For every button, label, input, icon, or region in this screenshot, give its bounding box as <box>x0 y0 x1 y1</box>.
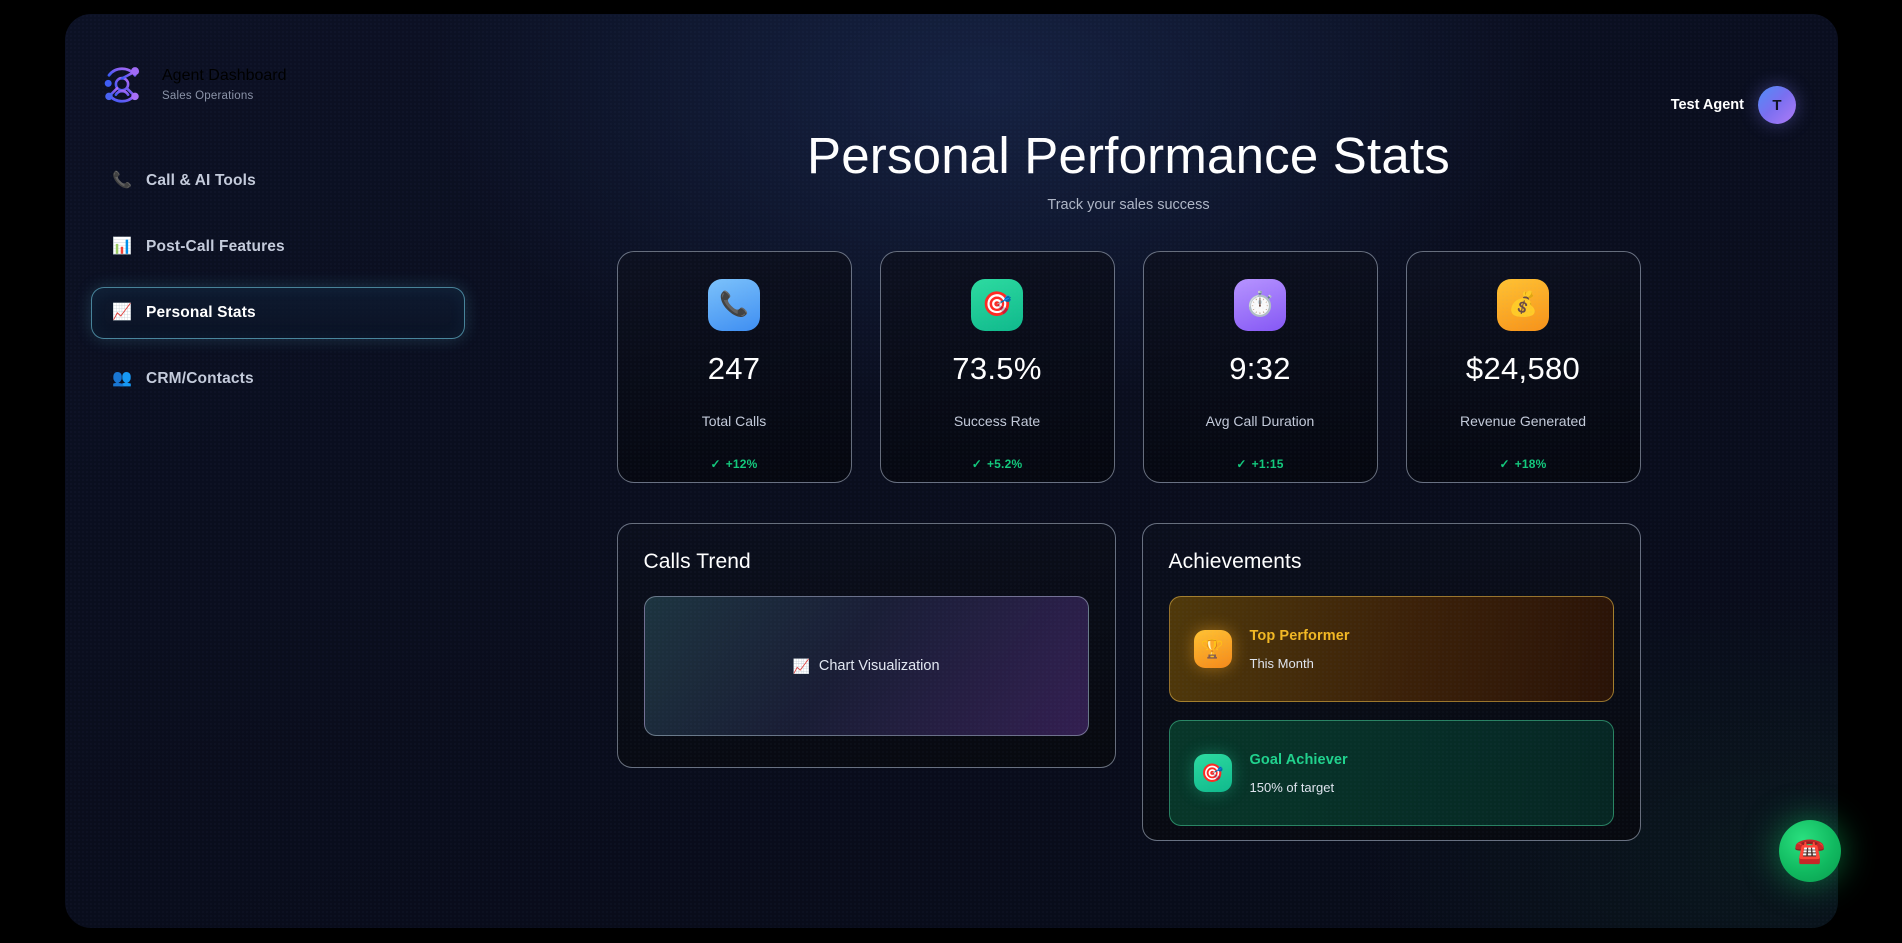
network-node-logo-icon <box>96 59 148 111</box>
sidebar-item-personal-stats[interactable]: 📈 Personal Stats <box>91 287 465 339</box>
phone-icon: 📞 <box>112 173 132 189</box>
stat-delta-value: +18% <box>1515 457 1547 471</box>
app-window: Agent Dashboard Sales Operations 📞 Call … <box>65 14 1838 928</box>
stat-delta-value: +1:15 <box>1252 457 1284 471</box>
calls-trend-panel: Calls Trend 📈 Chart Visualization <box>617 523 1116 768</box>
stat-delta-value: +5.2% <box>987 457 1022 471</box>
target-icon: 🎯 <box>1194 754 1232 792</box>
stat-value: 247 <box>708 351 761 387</box>
brand-block[interactable]: Agent Dashboard Sales Operations <box>65 59 485 111</box>
panel-title: Calls Trend <box>644 550 1089 574</box>
stopwatch-icon: ⏱️ <box>1234 279 1286 331</box>
phone-icon: 📞 <box>708 279 760 331</box>
check-icon: ✓ <box>1236 457 1246 471</box>
panels-row: Calls Trend 📈 Chart Visualization Achiev… <box>479 523 1778 841</box>
user-chip[interactable]: Test Agent T <box>1671 86 1796 124</box>
stat-card-avg-call-duration[interactable]: ⏱️ 9:32 Avg Call Duration ✓+1:15 <box>1143 251 1378 483</box>
user-name: Test Agent <box>1671 97 1744 113</box>
stats-row: 📞 247 Total Calls ✓+12% 🎯 73.5% Success … <box>479 251 1778 483</box>
stat-label: Total Calls <box>702 413 767 429</box>
stat-delta: ✓+5.2% <box>972 457 1023 471</box>
stat-label: Success Rate <box>954 413 1040 429</box>
achievements-panel: Achievements 🏆 Top Performer This Month … <box>1142 523 1641 841</box>
stat-label: Revenue Generated <box>1460 413 1586 429</box>
chart-placeholder-label: Chart Visualization <box>819 658 940 674</box>
telephone-icon: ☎️ <box>1794 839 1825 864</box>
achievement-title: Top Performer <box>1250 628 1350 644</box>
chart-visualization-placeholder[interactable]: 📈 Chart Visualization <box>644 596 1089 736</box>
sidebar-item-label: Call & AI Tools <box>146 172 256 190</box>
chart-increasing-icon: 📈 <box>112 305 132 321</box>
check-icon: ✓ <box>972 457 982 471</box>
money-bag-icon: 💰 <box>1497 279 1549 331</box>
sidebar-item-label: CRM/Contacts <box>146 370 254 388</box>
chart-increasing-icon: 📈 <box>792 658 809 675</box>
stat-delta-value: +12% <box>726 457 758 471</box>
check-icon: ✓ <box>710 457 720 471</box>
sidebar-item-label: Post-Call Features <box>146 238 285 256</box>
avatar[interactable]: T <box>1758 86 1796 124</box>
bar-chart-icon: 📊 <box>112 239 132 255</box>
stat-value: $24,580 <box>1466 351 1580 387</box>
stat-value: 73.5% <box>952 351 1041 387</box>
stat-label: Avg Call Duration <box>1206 413 1315 429</box>
achievement-subtitle: This Month <box>1250 656 1350 671</box>
stat-delta: ✓+12% <box>710 457 757 471</box>
call-fab-button[interactable]: ☎️ <box>1779 820 1841 882</box>
stat-card-total-calls[interactable]: 📞 247 Total Calls ✓+12% <box>617 251 852 483</box>
stat-card-success-rate[interactable]: 🎯 73.5% Success Rate ✓+5.2% <box>880 251 1115 483</box>
achievement-top-performer[interactable]: 🏆 Top Performer This Month <box>1169 596 1614 702</box>
page-subtitle: Track your sales success <box>479 197 1778 213</box>
brand-title: Agent Dashboard <box>162 67 287 85</box>
stat-card-revenue-generated[interactable]: 💰 $24,580 Revenue Generated ✓+18% <box>1406 251 1641 483</box>
sidebar: Agent Dashboard Sales Operations 📞 Call … <box>65 14 485 928</box>
achievement-subtitle: 150% of target <box>1250 780 1348 795</box>
sidebar-item-call-ai-tools[interactable]: 📞 Call & AI Tools <box>91 155 465 207</box>
page-title: Personal Performance Stats <box>479 126 1778 185</box>
people-icon: 👥 <box>112 371 132 387</box>
sidebar-item-label: Personal Stats <box>146 304 256 322</box>
achievement-goal-achiever[interactable]: 🎯 Goal Achiever 150% of target <box>1169 720 1614 826</box>
stat-delta: ✓+1:15 <box>1236 457 1283 471</box>
sidebar-item-crm-contacts[interactable]: 👥 CRM/Contacts <box>91 353 465 405</box>
achievement-title: Goal Achiever <box>1250 752 1348 768</box>
main-content: Personal Performance Stats Track your sa… <box>485 14 1838 928</box>
sidebar-item-post-call-features[interactable]: 📊 Post-Call Features <box>91 221 465 273</box>
brand-subtitle: Sales Operations <box>162 90 287 103</box>
check-icon: ✓ <box>1499 457 1509 471</box>
stat-delta: ✓+18% <box>1499 457 1546 471</box>
target-icon: 🎯 <box>971 279 1023 331</box>
trophy-icon: 🏆 <box>1194 630 1232 668</box>
sidebar-nav: 📞 Call & AI Tools 📊 Post-Call Features 📈… <box>65 155 485 405</box>
stat-value: 9:32 <box>1229 351 1291 387</box>
panel-title: Achievements <box>1169 550 1614 574</box>
